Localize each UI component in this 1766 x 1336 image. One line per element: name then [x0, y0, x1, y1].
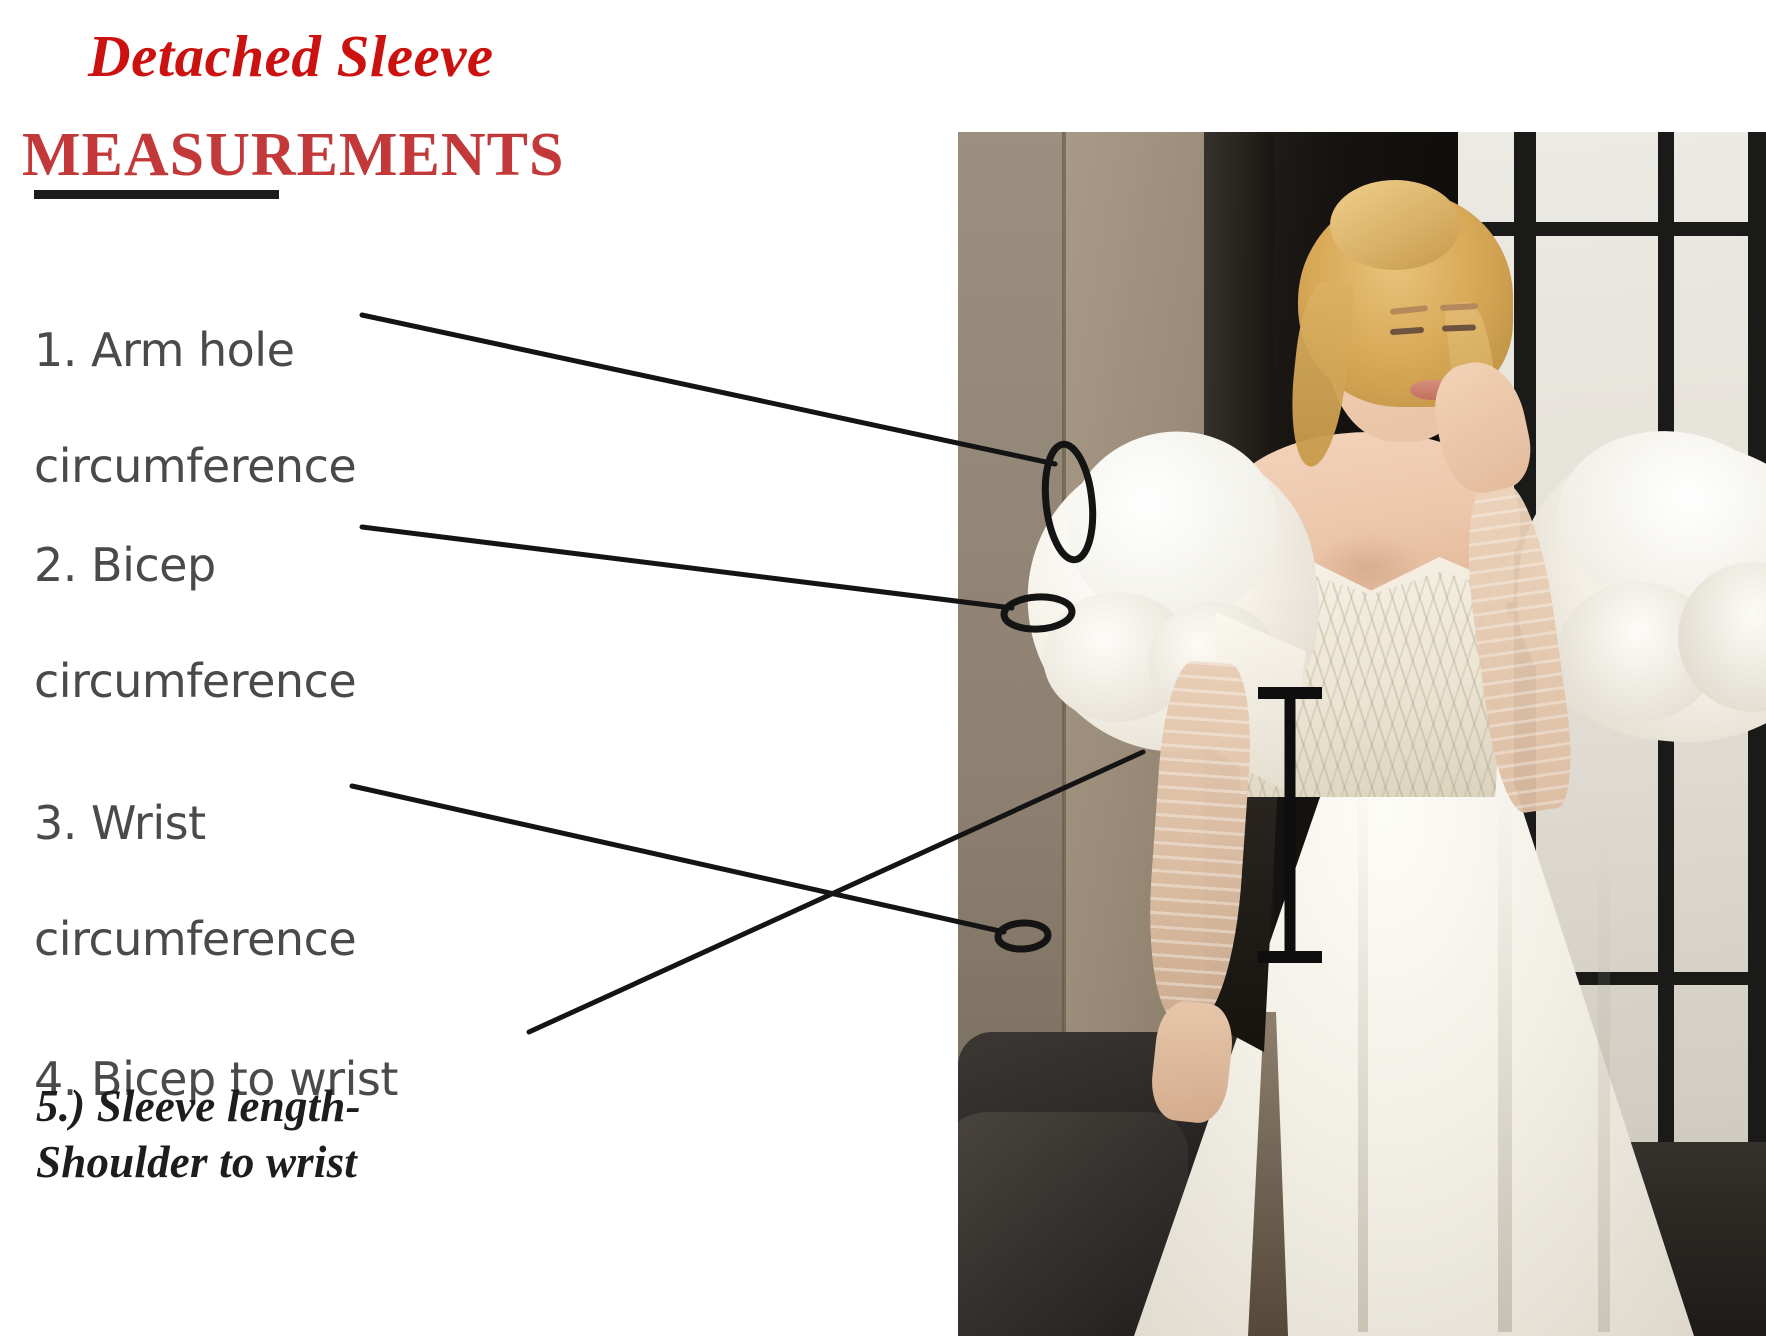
section-heading-measurements: MEASUREMENTS	[22, 120, 565, 191]
heading-underline-rule	[34, 190, 279, 199]
measurement-item-wrist-line2: circumference	[34, 910, 356, 968]
photo-scene	[958, 132, 1766, 1336]
measurement-item-wrist-line1: 3. Wrist	[34, 794, 356, 852]
skirt-fold-1	[1358, 772, 1368, 1332]
measurement-item-wrist: 3. Wrist circumference	[34, 736, 356, 1026]
model-eye-right	[1442, 324, 1476, 331]
measurement-item-sleeve-length-line2: Shoulder to wrist	[36, 1134, 361, 1190]
window-mullion-horizontal-1	[1458, 222, 1766, 236]
measurements-text-panel: Detached Sleeve MEASUREMENTS 1. Arm hole…	[0, 0, 958, 1336]
measurement-item-bicep-line1: 2. Bicep	[34, 536, 356, 594]
measurement-item-bicep-line2: circumference	[34, 652, 356, 710]
measurement-item-sleeve-length: 5.) Sleeve length- Shoulder to wrist	[36, 1078, 361, 1190]
page-title: Detached Sleeve	[88, 22, 494, 91]
slide-root: Detached Sleeve MEASUREMENTS 1. Arm hole…	[0, 0, 1766, 1336]
skirt-fold-3	[1598, 832, 1610, 1332]
measurement-item-arm-hole-line1: 1. Arm hole	[34, 321, 356, 379]
skirt-fold-2	[1498, 792, 1512, 1332]
measurement-item-bicep: 2. Bicep circumference	[34, 478, 356, 768]
model-hair-bun	[1330, 180, 1460, 270]
bride-dress-photo	[958, 132, 1766, 1336]
measurement-item-sleeve-length-line1: 5.) Sleeve length-	[36, 1078, 361, 1134]
